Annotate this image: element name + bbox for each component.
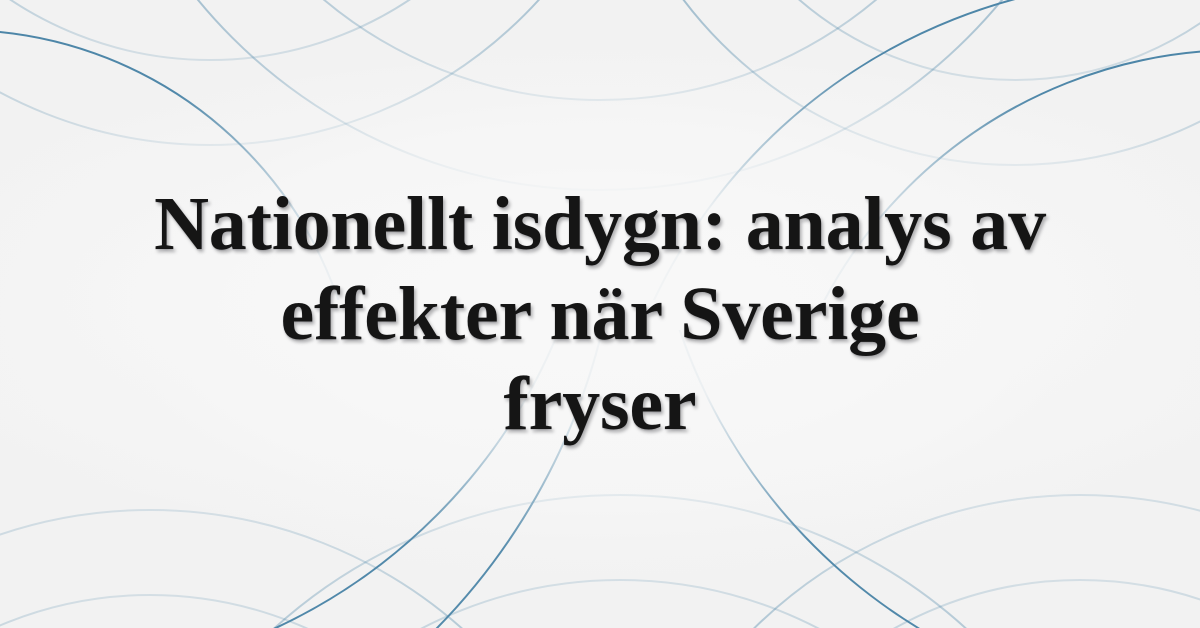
page-title: Nationellt isdygn: analys av effekter nä… <box>154 179 1046 449</box>
title-line-3: fryser <box>154 359 1046 449</box>
title-container: Nationellt isdygn: analys av effekter nä… <box>0 0 1200 628</box>
title-line-2: effekter när Sverige <box>154 269 1046 359</box>
title-card: Nationellt isdygn: analys av effekter nä… <box>0 0 1200 628</box>
title-line-1: Nationellt isdygn: analys av <box>154 179 1046 269</box>
